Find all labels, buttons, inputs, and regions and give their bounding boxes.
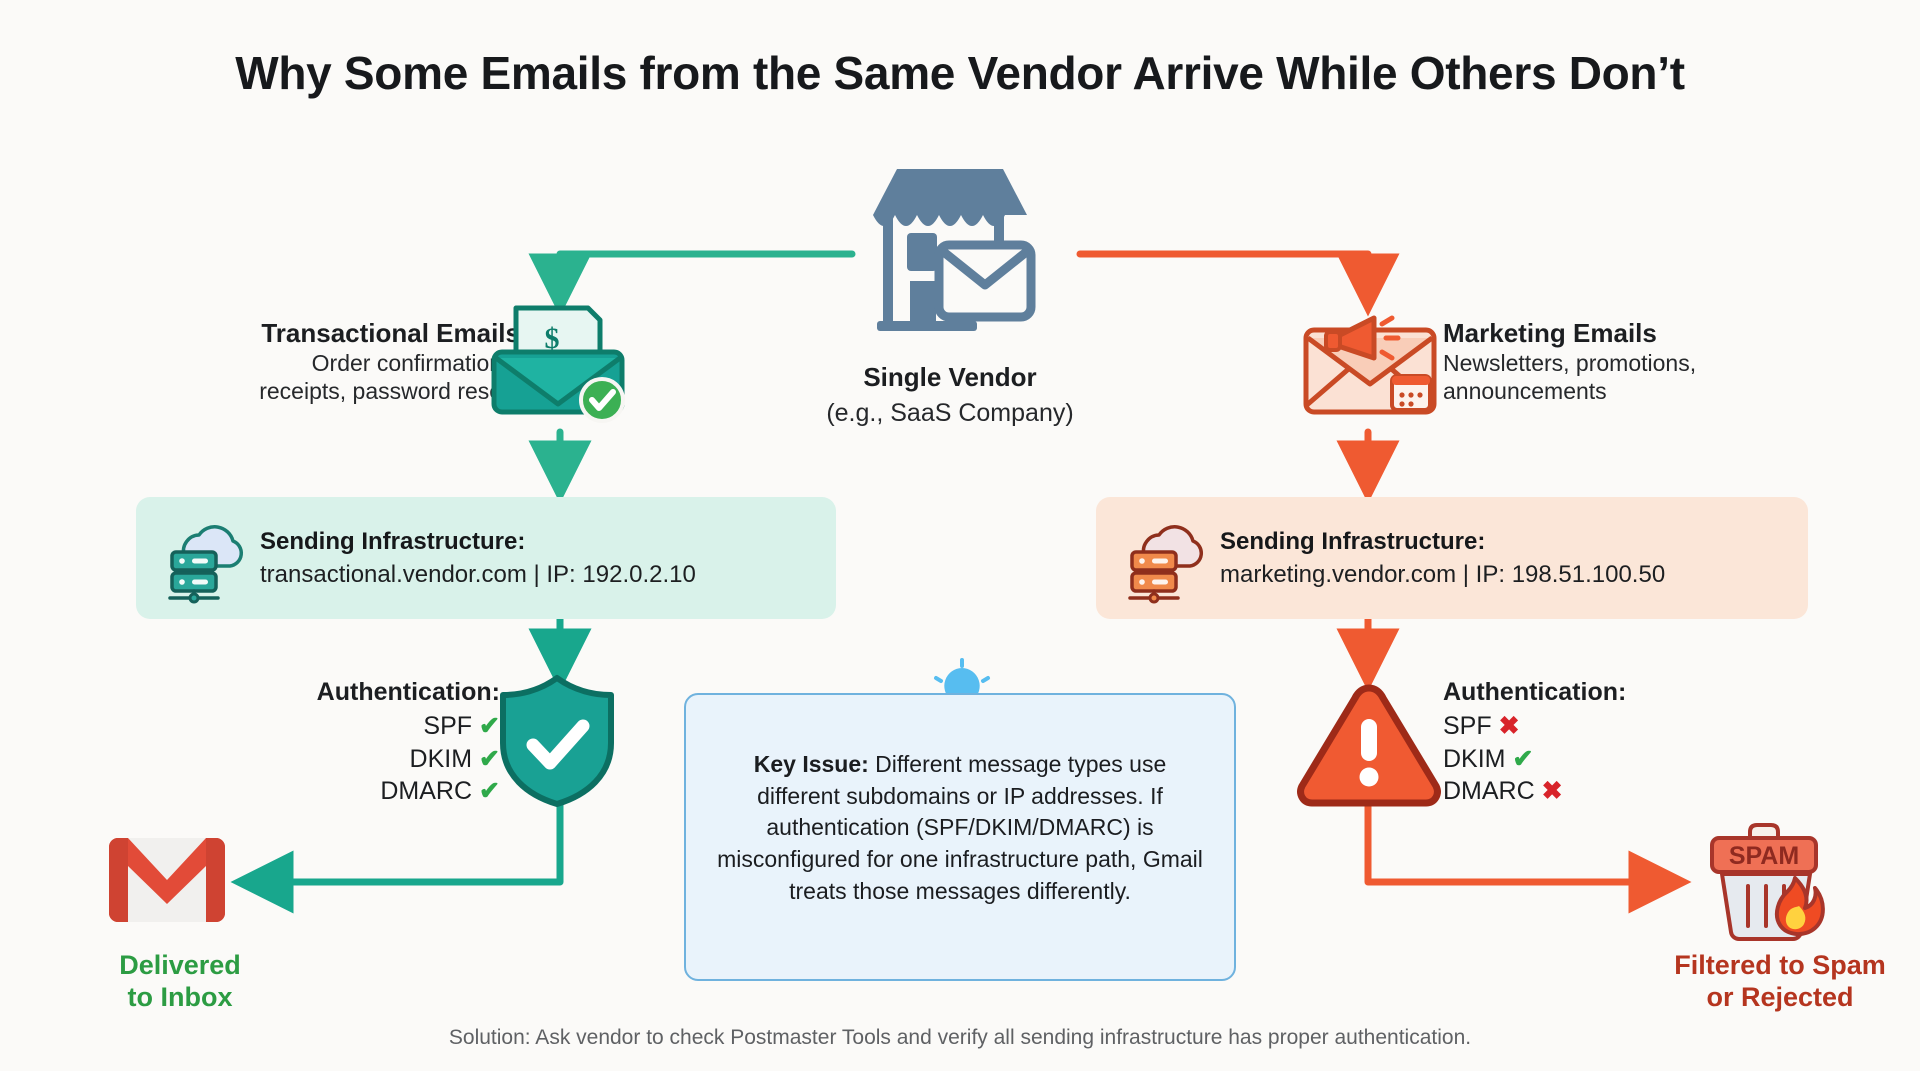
auth-row-name: DMARC (380, 777, 472, 805)
gmail-icon (105, 832, 229, 928)
transactional-heading: Transactional Emails (130, 318, 520, 349)
transactional-infrastructure-card: Sending Infrastructure: transactional.ve… (136, 497, 836, 619)
auth-row-name: DKIM (410, 745, 473, 773)
auth-fail-icon: ✖ (1542, 777, 1563, 805)
key-issue-text: Key Issue: Different message types use d… (712, 749, 1208, 908)
auth-row: DMARC✔ (180, 775, 500, 808)
auth-row-name: DMARC (1443, 777, 1535, 805)
spam-outcome-label: Filtered to Spam or Rejected (1640, 950, 1920, 1014)
auth-row: DKIM✔ (180, 743, 500, 776)
marketing-line-2: announcements (1443, 377, 1843, 405)
transactional-line-2: receipts, password resets (130, 377, 520, 405)
marketing-auth-title: Authentication: (1443, 678, 1773, 707)
storefront-envelope-icon (855, 155, 1045, 345)
auth-row: SPF✖ (1443, 710, 1773, 743)
auth-row-name: SPF (1443, 712, 1492, 740)
cloud-server-icon (1118, 515, 1204, 601)
infographic-canvas: Why Some Emails from the Same Vendor Arr… (0, 0, 1920, 1071)
transactional-auth-title: Authentication: (180, 678, 500, 707)
marketing-line-1: Newsletters, promotions, (1443, 349, 1843, 377)
marketing-heading: Marketing Emails (1443, 318, 1843, 349)
spam-line-2: or Rejected (1640, 982, 1920, 1014)
spam-line-1: Filtered to Spam (1640, 950, 1920, 982)
invoice-envelope-check-icon: $ (488, 300, 628, 425)
auth-row: DKIM✔ (1443, 743, 1773, 776)
delivered-outcome-label: Delivered to Inbox (40, 950, 320, 1014)
shield-check-icon (493, 673, 621, 809)
marketing-infrastructure-card: Sending Infrastructure: marketing.vendor… (1096, 497, 1808, 619)
transactional-infra-value: transactional.vendor.com | IP: 192.0.2.1… (260, 560, 696, 589)
key-issue-label: Key Issue: (754, 751, 869, 777)
spam-trash-fire-icon: SPAM (1700, 820, 1832, 942)
vendor-name: Single Vendor (760, 362, 1140, 393)
vendor-subtitle: (e.g., SaaS Company) (760, 399, 1140, 428)
cloud-server-icon (158, 515, 244, 601)
auth-row-name: DKIM (1443, 745, 1506, 773)
delivered-line-1: Delivered (40, 950, 320, 982)
vendor-label-block: Single Vendor (e.g., SaaS Company) (760, 362, 1140, 428)
key-issue-card: Key Issue: Different message types use d… (684, 693, 1236, 981)
marketing-infra-label: Sending Infrastructure: (1220, 527, 1665, 556)
marketing-branch-label: Marketing Emails Newsletters, promotions… (1443, 318, 1843, 405)
marketing-infra-value: marketing.vendor.com | IP: 198.51.100.50 (1220, 560, 1665, 589)
auth-row: DMARC✖ (1443, 775, 1773, 808)
transactional-infra-label: Sending Infrastructure: (260, 527, 696, 556)
auth-row: SPF✔ (180, 710, 500, 743)
transactional-branch-label: Transactional Emails Order confirmations… (130, 318, 520, 405)
auth-fail-icon: ✖ (1499, 712, 1520, 740)
megaphone-envelope-icon (1300, 300, 1440, 425)
transactional-line-1: Order confirmations, (130, 349, 520, 377)
transactional-auth-block: Authentication: SPF✔ DKIM✔ DMARC✔ (180, 678, 500, 808)
warning-triangle-icon (1293, 678, 1445, 810)
svg-text:SPAM: SPAM (1729, 842, 1799, 870)
solution-footer: Solution: Ask vendor to check Postmaster… (0, 1026, 1920, 1050)
auth-pass-icon: ✔ (1513, 745, 1534, 773)
marketing-auth-block: Authentication: SPF✖ DKIM✔ DMARC✖ (1443, 678, 1773, 808)
auth-row-name: SPF (423, 712, 472, 740)
delivered-line-2: to Inbox (40, 982, 320, 1014)
